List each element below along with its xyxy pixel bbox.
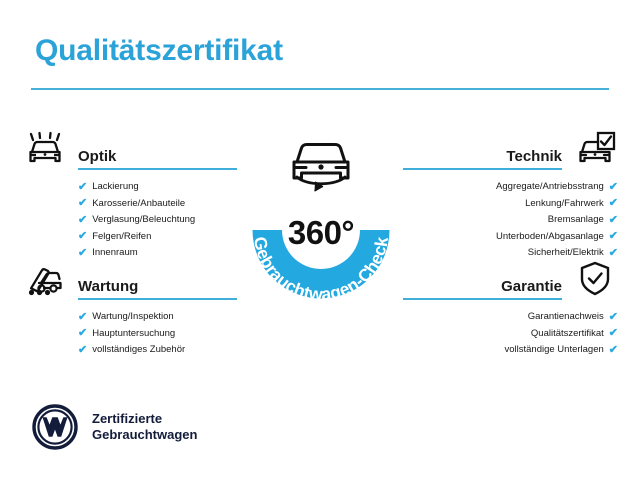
list-item-label: Aggregate/Antriebsstrang <box>496 179 604 196</box>
check-icon: ✔ <box>78 345 87 356</box>
section-header-technik: Technik <box>403 126 618 172</box>
badge-360-gebrauchtwagen-check: Gebrauchtwagen-Check 360° <box>228 118 414 318</box>
section-rule-optik <box>78 168 237 170</box>
list-item-label: vollständige Unterlagen <box>504 342 603 359</box>
list-item-label: Qualitätszertifikat <box>531 326 604 343</box>
list-item-label: Hauptuntersuchung <box>92 326 175 343</box>
checklist-wartung: ✔ Wartung/Inspektion ✔ Hauptuntersuchung… <box>22 309 237 359</box>
list-item: ✔ Wartung/Inspektion <box>22 309 237 326</box>
check-icon: ✔ <box>78 198 87 209</box>
section-rule-garantie <box>403 298 562 300</box>
page-title: Qualitätszertifikat <box>35 34 283 68</box>
check-icon: ✔ <box>78 215 87 226</box>
section-title-optik: Optik <box>78 148 237 168</box>
shield-check-icon <box>572 258 618 300</box>
check-icon: ✔ <box>78 328 87 339</box>
section-title-wartung: Wartung <box>78 278 237 298</box>
section-header-garantie: Garantie <box>403 256 618 302</box>
list-item: ✔ Hauptuntersuchung <box>22 326 237 343</box>
footer-text: Zertifizierte Gebrauchtwagen <box>92 411 197 443</box>
list-item: Aggregate/Antriebsstrang ✔ <box>403 179 618 196</box>
volkswagen-logo <box>32 404 78 450</box>
section-title-garantie: Garantie <box>501 278 562 298</box>
list-item: Lenkung/Fahrwerk ✔ <box>403 196 618 213</box>
list-item: ✔ Verglasung/Beleuchtung <box>22 212 237 229</box>
list-item-label: Karosserie/Anbauteile <box>92 196 185 213</box>
section-optik: Optik ✔ Lackierung ✔ Karosserie/Anbautei… <box>22 126 237 262</box>
footer-line-1: Zertifizierte <box>92 411 197 427</box>
section-rule-wartung <box>78 298 237 300</box>
title-divider <box>31 88 609 90</box>
list-item: Bremsanlage ✔ <box>403 212 618 229</box>
list-item-label: Felgen/Reifen <box>92 229 151 246</box>
car-front-checkbox-icon <box>572 128 618 170</box>
list-item-label: Lackierung <box>92 179 138 196</box>
section-garantie: Garantie Garantienachweis ✔ Qualitätszer… <box>403 256 618 359</box>
list-item: Qualitätszertifikat ✔ <box>403 326 618 343</box>
car-front-rotate-icon <box>294 145 348 192</box>
check-icon: ✔ <box>609 231 618 242</box>
wrench-car-service-icon <box>22 258 68 300</box>
check-icon: ✔ <box>78 231 87 242</box>
section-title-block-optik: Optik <box>68 128 237 170</box>
check-icon: ✔ <box>609 198 618 209</box>
footer-line-2: Gebrauchtwagen <box>92 427 197 443</box>
check-icon: ✔ <box>609 215 618 226</box>
section-title-block-wartung: Wartung <box>68 258 237 300</box>
section-title-block-garantie: Garantie <box>403 258 572 300</box>
footer-brand: Zertifizierte Gebrauchtwagen <box>32 404 197 450</box>
list-item-label: Garantienachweis <box>528 309 604 326</box>
check-icon: ✔ <box>78 182 87 193</box>
list-item-label: Bremsanlage <box>548 212 604 229</box>
section-title-block-technik: Technik <box>403 128 572 170</box>
list-item: ✔ vollständiges Zubehör <box>22 342 237 359</box>
list-item: Unterboden/Abgasanlage ✔ <box>403 229 618 246</box>
car-front-inspection-icon <box>22 128 68 170</box>
check-icon: ✔ <box>609 328 618 339</box>
badge-center-label: 360° <box>228 214 414 252</box>
list-item-label: Unterboden/Abgasanlage <box>496 229 604 246</box>
section-wartung: Wartung ✔ Wartung/Inspektion ✔ Hauptunte… <box>22 256 237 359</box>
list-item-label: Wartung/Inspektion <box>92 309 174 326</box>
list-item: ✔ Karosserie/Anbauteile <box>22 196 237 213</box>
list-item-label: Verglasung/Beleuchtung <box>92 212 195 229</box>
check-icon: ✔ <box>609 345 618 356</box>
section-rule-technik <box>403 168 562 170</box>
checklist-optik: ✔ Lackierung ✔ Karosserie/Anbauteile ✔ V… <box>22 179 237 262</box>
section-title-technik: Technik <box>506 148 562 168</box>
check-icon: ✔ <box>609 182 618 193</box>
section-header-wartung: Wartung <box>22 256 237 302</box>
list-item-label: vollständiges Zubehör <box>92 342 185 359</box>
list-item: vollständige Unterlagen ✔ <box>403 342 618 359</box>
check-icon: ✔ <box>78 312 87 323</box>
list-item-label: Lenkung/Fahrwerk <box>525 196 604 213</box>
list-item: ✔ Felgen/Reifen <box>22 229 237 246</box>
list-item: ✔ Lackierung <box>22 179 237 196</box>
list-item: Garantienachweis ✔ <box>403 309 618 326</box>
checklist-technik: Aggregate/Antriebsstrang ✔ Lenkung/Fahrw… <box>403 179 618 262</box>
section-technik: Technik Aggregate/Antriebsstrang ✔ Lenku… <box>403 126 618 262</box>
check-icon: ✔ <box>609 312 618 323</box>
checklist-garantie: Garantienachweis ✔ Qualitätszertifikat ✔… <box>403 309 618 359</box>
certificate-page: Qualitätszertifikat <box>0 0 640 480</box>
section-header-optik: Optik <box>22 126 237 172</box>
